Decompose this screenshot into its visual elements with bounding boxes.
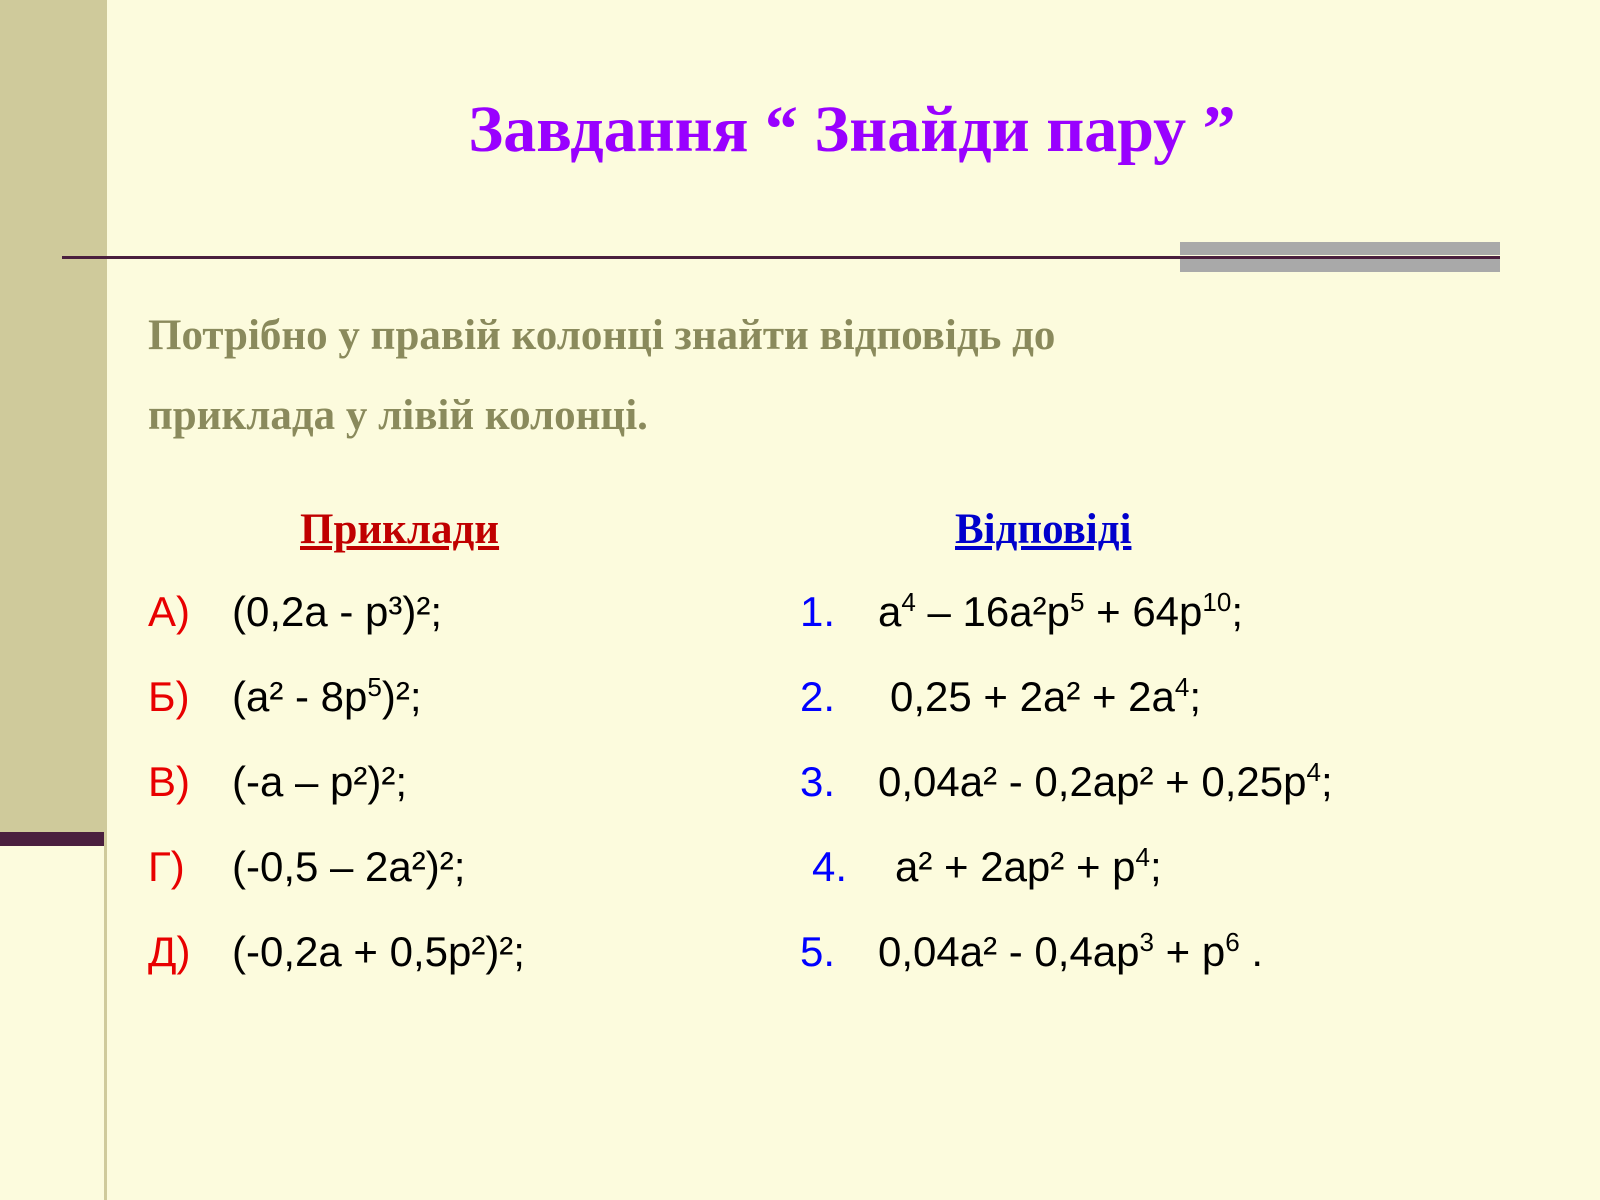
answer-label[interactable]: 2.: [800, 673, 835, 721]
example-expression: (-а – р²)²;: [232, 758, 407, 806]
table-row: Г)(-0,5 – 2а²)²;4.а² + 2ар² + р4;: [0, 843, 1600, 928]
title-rule-bar-bottom: [1180, 259, 1500, 272]
instruction-line-2: приклада у лівій колонці.: [148, 376, 1488, 456]
example-expression: (0,2а - р³)²;: [232, 588, 442, 636]
answer-label[interactable]: 3.: [800, 758, 835, 806]
page-title: Завдання “ Знайди пару ”: [104, 92, 1600, 168]
example-expression: (-0,2а + 0,5р²)²;: [232, 928, 525, 976]
instruction-line-1: Потрібно у правій колонці знайти відпові…: [148, 296, 1488, 376]
answer-expression: а4 – 16а²р5 + 64р10;: [878, 588, 1243, 636]
table-row: В)(-а – р²)²;3.0,04а² - 0,2ар² + 0,25р4;: [0, 758, 1600, 843]
title-rule-bar-top: [1180, 242, 1500, 255]
example-expression: (а² - 8р5)²;: [232, 673, 422, 721]
example-label[interactable]: Б): [148, 673, 190, 721]
answer-expression: 0,04а² - 0,4ар3 + р6 .: [878, 928, 1263, 976]
answer-label[interactable]: 5.: [800, 928, 835, 976]
instruction-text: Потрібно у правій колонці знайти відпові…: [148, 296, 1488, 455]
answer-label[interactable]: 1.: [800, 588, 835, 636]
example-label[interactable]: В): [148, 758, 190, 806]
answers-column-heading: Відповіді: [955, 505, 1131, 554]
answer-expression: 0,04а² - 0,2ар² + 0,25р4;: [878, 758, 1333, 806]
answer-label[interactable]: 4.: [812, 843, 847, 891]
match-pairs-table: А)(0,2а - р³)²;1.а4 – 16а²р5 + 64р10;Б)(…: [0, 588, 1600, 1013]
examples-column-heading: Приклади: [300, 505, 499, 554]
example-label[interactable]: А): [148, 588, 190, 636]
answer-expression: 0,25 + 2а² + 2а4;: [890, 673, 1201, 721]
table-row: А)(0,2а - р³)²;1.а4 – 16а²р5 + 64р10;: [0, 588, 1600, 673]
example-label[interactable]: Г): [148, 843, 185, 891]
example-label[interactable]: Д): [148, 928, 190, 976]
table-row: Д)(-0,2а + 0,5р²)²;5.0,04а² - 0,4ар3 + р…: [0, 928, 1600, 1013]
example-expression: (-0,5 – 2а²)²;: [232, 843, 465, 891]
answer-expression: а² + 2ар² + р4;: [895, 843, 1162, 891]
table-row: Б)(а² - 8р5)²;2.0,25 + 2а² + 2а4;: [0, 673, 1600, 758]
